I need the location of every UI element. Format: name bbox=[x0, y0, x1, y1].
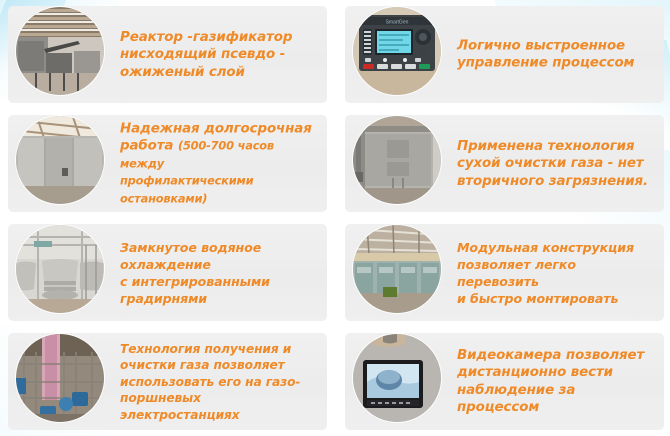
feature-text-line: Замкнутое водяное охлаждение bbox=[120, 240, 261, 272]
feature-text-line: Видеокамера позволяет bbox=[457, 348, 644, 363]
feature-text-line: Логично выстроенное bbox=[457, 38, 625, 53]
feature-text-reliable-operation: Надежная долгосрочнаяработа (500-700 час… bbox=[120, 120, 317, 208]
feature-text-line: нисходящий псевдо - bbox=[120, 47, 285, 62]
feature-card-video-monitoring[interactable]: Видеокамера позволяетдистанционно вестин… bbox=[345, 333, 664, 430]
cooling-towers-photo bbox=[16, 225, 104, 313]
reactor-cabinets-photo bbox=[16, 116, 104, 204]
feature-text-line: позволяет легко перевозить bbox=[457, 257, 576, 289]
feature-subtext-line: профилактическими остановками) bbox=[120, 173, 253, 205]
feature-text-line: работа bbox=[120, 138, 178, 153]
feature-text-line: вторичного загрязнения. bbox=[457, 173, 648, 188]
feature-cell: Модульная конструкцияпозволяет легко пер… bbox=[335, 218, 670, 327]
feature-text-video-monitoring: Видеокамера позволяетдистанционно вестин… bbox=[457, 347, 654, 417]
control-panel-photo: SmartGen bbox=[353, 7, 441, 95]
feature-text-line: Применена технология bbox=[457, 138, 634, 153]
feature-text-line: очистки газа позволяет bbox=[120, 358, 285, 372]
feature-cell: Замкнутое водяное охлаждениес интегриров… bbox=[0, 218, 335, 327]
feature-text-line: градирнями bbox=[120, 291, 207, 306]
feature-cell: Применена технологиясухой очистки газа -… bbox=[335, 109, 670, 218]
feature-card-gas-production-technology[interactable]: Технология получения иочистки газа позво… bbox=[8, 333, 327, 430]
feature-text-line: ожиженый слой bbox=[120, 64, 245, 79]
feature-card-dry-gas-cleaning[interactable]: Применена технологиясухой очистки газа -… bbox=[345, 115, 664, 212]
feature-text-dry-gas-cleaning: Применена технологиясухой очистки газа -… bbox=[457, 137, 654, 190]
feature-text-reactor-gasifier: Реактор -газификаторнисходящий псевдо -о… bbox=[120, 28, 317, 81]
modular-hall-photo bbox=[353, 225, 441, 313]
feature-text-modular-design: Модульная конструкцияпозволяет легко пер… bbox=[457, 239, 654, 307]
gas-cleaning-unit-photo bbox=[353, 116, 441, 204]
feature-text-line: управление процессом bbox=[457, 56, 634, 71]
feature-card-modular-design[interactable]: Модульная конструкцияпозволяет легко пер… bbox=[345, 224, 664, 321]
feature-cell: Реактор -газификаторнисходящий псевдо -о… bbox=[0, 0, 335, 109]
reactor-gasifier-photo bbox=[16, 7, 104, 95]
feature-card-process-control[interactable]: SmartGen Логично выстроенноеуправление п… bbox=[345, 6, 664, 103]
feature-cell: Видеокамера позволяетдистанционно вестин… bbox=[335, 327, 670, 436]
feature-text-line: Реактор -газификатор bbox=[120, 29, 292, 44]
feature-text-line: наблюдение за процессом bbox=[457, 383, 575, 416]
feature-text-line: Модульная конструкция bbox=[457, 240, 634, 255]
feature-text-line: с интегрированными bbox=[120, 274, 270, 289]
feature-cell: Надежная долгосрочнаяработа (500-700 час… bbox=[0, 109, 335, 218]
feature-text-line: использовать его на газо- bbox=[120, 374, 300, 388]
feature-cell: SmartGen Логично выстроенноеуправление п… bbox=[335, 0, 670, 109]
feature-text-gas-production-technology: Технология получения иочистки газа позво… bbox=[120, 340, 317, 423]
feature-grid: Реактор -газификаторнисходящий псевдо -о… bbox=[0, 0, 670, 436]
feature-text-line: Надежная долгосрочная bbox=[120, 121, 312, 136]
feature-text-line: поршневых электростанциях bbox=[120, 391, 240, 422]
feature-text-line: сухой очистки газа - нет bbox=[457, 156, 644, 171]
feature-cell: Технология получения иочистки газа позво… bbox=[0, 327, 335, 436]
feature-card-reliable-operation[interactable]: Надежная долгосрочнаяработа (500-700 час… bbox=[8, 115, 327, 212]
feature-card-reactor-gasifier[interactable]: Реактор -газификаторнисходящий псевдо -о… bbox=[8, 6, 327, 103]
feature-text-line: Технология получения и bbox=[120, 341, 291, 355]
feature-text-closed-water-cooling: Замкнутое водяное охлаждениес интегриров… bbox=[120, 239, 317, 307]
video-monitor-photo bbox=[353, 334, 441, 422]
feature-text-line: и быстро монтировать bbox=[457, 291, 618, 306]
feature-card-closed-water-cooling[interactable]: Замкнутое водяное охлаждениес интегриров… bbox=[8, 224, 327, 321]
feature-text-process-control: Логично выстроенноеуправление процессом bbox=[457, 37, 654, 72]
svg-text:SmartGen: SmartGen bbox=[386, 20, 409, 26]
gas-column-photo bbox=[16, 334, 104, 422]
feature-text-line: дистанционно вести bbox=[457, 365, 613, 380]
